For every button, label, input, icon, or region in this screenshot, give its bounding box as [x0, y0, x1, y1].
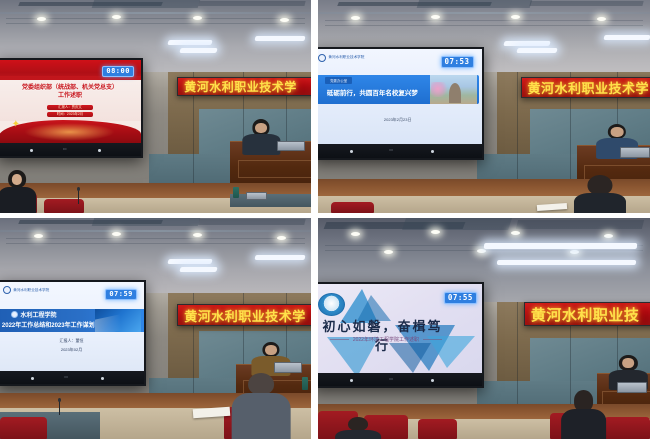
- chair: [604, 417, 650, 439]
- slide-header-text: 黄河水利职业技术学院: [13, 288, 49, 293]
- screen-bezel-1: ▭: [0, 143, 141, 155]
- slide-subtitle-4: 2022年环境工程学院工作述职: [353, 336, 419, 343]
- presentation-screen-3[interactable]: 黄河水利职业技术学院 水利工程学院 2022年工作总结和2023年工作谋划 汇报…: [0, 280, 146, 386]
- presenter-1: [243, 119, 280, 153]
- laptop-3: [274, 362, 302, 373]
- slide-main-title-2: 砥砺前行，共圆百年名校复兴梦: [320, 87, 425, 97]
- slide-org-3: 水利工程学院: [11, 310, 57, 319]
- dove-icon: ✦: [12, 119, 20, 130]
- downlight-icon: [431, 230, 440, 234]
- divider-right: [423, 339, 442, 340]
- audience-row-1: [0, 166, 311, 213]
- chair: [0, 417, 47, 439]
- downlight-icon: [477, 249, 486, 253]
- slide-image-3: [95, 309, 141, 332]
- slide-image-2: [430, 75, 477, 103]
- slide-header-2: 黄河水利职业技术学院: [318, 54, 364, 62]
- conference-photo-3: 黄河水利职业技术学 黄河水利职业技术学院 水利工程学院 2022年工作总结和20…: [0, 218, 311, 439]
- school-seal-icon: [318, 54, 326, 62]
- downlight-icon: [193, 16, 202, 20]
- downlight-icon: [37, 17, 46, 21]
- slide-subtitle-3: 2022年工作总结和2023年工作谋划: [2, 320, 95, 329]
- led-banner-text: 黄河水利职业技: [525, 304, 640, 325]
- downlight-icon: [351, 232, 360, 236]
- countdown-timer-1: 08:00: [102, 66, 134, 77]
- photo-grid: 黄河水利职业技术学 党委组织部（统战部、机关党总支） 工作述职 汇报人：贾庆文 …: [0, 0, 650, 439]
- slide-header-text: 黄河水利职业技术学院: [328, 55, 364, 60]
- downlight-icon: [280, 18, 289, 22]
- slide-tag-2: 党委办公室: [325, 77, 352, 84]
- screen-bezel-2: ▭: [318, 144, 482, 158]
- led-banner-text: 黄河水利职业技术学: [178, 78, 297, 95]
- slide-date-3: 2023年02月: [0, 347, 144, 353]
- led-banner-1: 黄河水利职业技术学: [177, 77, 311, 96]
- audience-member-5: [338, 417, 378, 439]
- ceiling-tube-light: [603, 35, 650, 40]
- audience-member-3: [236, 373, 286, 439]
- countdown-timer-2: 07:53: [441, 56, 474, 68]
- downlight-icon: [604, 234, 613, 238]
- slide-date-2: 2023年2月23日: [318, 117, 482, 123]
- downlight-icon: [511, 231, 520, 235]
- photo-cell-bottom-right[interactable]: 黄河水利职业技 初心如磐，奋楫笃行 2022年环境工程学院工作述职 07:55: [318, 218, 650, 439]
- photo-cell-top-right[interactable]: 黄河水利职业技术学 黄河水利职业技术学院 党委办公室 砥砺前行，共圆百年名校复兴…: [318, 0, 650, 218]
- downlight-icon: [193, 233, 202, 237]
- downlight-icon: [431, 15, 440, 19]
- presentation-screen-1[interactable]: 党委组织部（统战部、机关党总支） 工作述职 汇报人：贾庆文 时间：2023年2月…: [0, 58, 143, 158]
- slide-title-line2: 工作述职: [7, 92, 132, 100]
- slide-4: 初心如磐，奋楫笃行 2022年环境工程学院工作述职 07:55: [318, 284, 482, 373]
- school-seal-icon: [3, 286, 11, 294]
- slide-pill-date: 时间：2023年2月: [47, 112, 92, 117]
- ceiling-tube-light: [497, 260, 637, 265]
- led-banner-text: 黄河水利职业技术学: [178, 306, 306, 325]
- led-banner-4: 黄河水利职业技: [524, 302, 650, 326]
- slide-pill-reporter: 汇报人：贾庆文: [47, 105, 92, 110]
- slide-subtitle-wrap-4: 2022年环境工程学院工作述职: [330, 336, 441, 343]
- ceiling-tube-light: [167, 259, 212, 264]
- screen-brand-logo: ▭: [63, 146, 67, 151]
- downlight-icon: [597, 17, 606, 21]
- microphone-1: [78, 190, 79, 205]
- presentation-screen-4[interactable]: 初心如磐，奋楫笃行 2022年环境工程学院工作述职 07:55 ▭: [318, 282, 484, 388]
- screen-brand-logo: ▭: [389, 376, 393, 381]
- downlight-icon: [277, 236, 286, 240]
- audience-member-2: [577, 175, 623, 213]
- ceiling-tube-light: [254, 255, 305, 260]
- led-banner-3: 黄河水利职业技术学: [177, 304, 311, 326]
- conference-photo-1: 黄河水利职业技术学 党委组织部（统战部、机关党总支） 工作述职 汇报人：贾庆文 …: [0, 0, 311, 213]
- divider-left: [330, 339, 349, 340]
- slide-1: 党委组织部（统战部、机关党总支） 工作述职 汇报人：贾庆文 时间：2023年2月…: [0, 60, 141, 144]
- ceiling-tube-light: [180, 267, 219, 272]
- ceiling-tube-light: [167, 40, 212, 45]
- conference-photo-2: 黄河水利职业技术学 黄河水利职业技术学院 党委办公室 砥砺前行，共圆百年名校复兴…: [318, 0, 650, 213]
- slide-reporter-3: 汇报人：董恒: [0, 338, 144, 344]
- slide-title-1: 党委组织部（统战部、机关党总支） 工作述职: [7, 84, 132, 100]
- slide-2: 黄河水利职业技术学院 党委办公室 砥砺前行，共圆百年名校复兴梦 2023年2月2…: [318, 49, 482, 144]
- laptop-2: [620, 147, 650, 158]
- screen-brand-logo: ▭: [389, 147, 393, 152]
- ceiling-tube-light: [180, 48, 219, 53]
- countdown-timer-4: 07:55: [444, 292, 477, 304]
- slide-header-3: 黄河水利职业技术学院: [3, 286, 49, 294]
- org-badge-icon: [11, 311, 18, 318]
- conference-photo-4: 黄河水利职业技 初心如磐，奋楫笃行 2022年环境工程学院工作述职 07:55: [318, 218, 650, 439]
- chair: [331, 202, 374, 213]
- audience-member-1: [0, 170, 34, 213]
- ceiling-tube-light: [503, 41, 551, 46]
- screen-brand-logo: ▭: [64, 374, 68, 379]
- chair: [418, 419, 458, 439]
- slide-org-text: 水利工程学院: [21, 310, 57, 319]
- downlight-icon: [570, 250, 579, 254]
- slide-title-line1: 党委组织部（统战部、机关党总支）: [7, 84, 132, 92]
- archway-shape: [449, 83, 461, 102]
- downlight-icon: [34, 234, 43, 238]
- laptop-1: [277, 141, 305, 152]
- led-banner-text: 黄河水利职业技术学: [522, 78, 650, 97]
- slide-3: 黄河水利职业技术学院 水利工程学院 2022年工作总结和2023年工作谋划 汇报…: [0, 282, 144, 371]
- photo-cell-top-left[interactable]: 黄河水利职业技术学 党委组织部（统战部、机关党总支） 工作述职 汇报人：贾庆文 …: [0, 0, 318, 218]
- ceiling-tube-light: [254, 36, 305, 41]
- presentation-screen-2[interactable]: 黄河水利职业技术学院 党委办公室 砥砺前行，共圆百年名校复兴梦 2023年2月2…: [318, 47, 484, 160]
- downlight-icon: [511, 15, 520, 19]
- audience-member-4: [564, 390, 604, 439]
- led-banner-2: 黄河水利职业技术学: [521, 77, 650, 98]
- downlight-icon: [112, 232, 121, 236]
- photo-cell-bottom-left[interactable]: 黄河水利职业技术学 黄河水利职业技术学院 水利工程学院 2022年工作总结和20…: [0, 218, 318, 439]
- ceiling-tube-light: [484, 243, 637, 249]
- countdown-timer-3: 07:59: [105, 289, 137, 300]
- blossom-shape: [431, 82, 448, 98]
- ceiling-tube-light: [516, 48, 557, 53]
- downlight-icon: [384, 250, 393, 254]
